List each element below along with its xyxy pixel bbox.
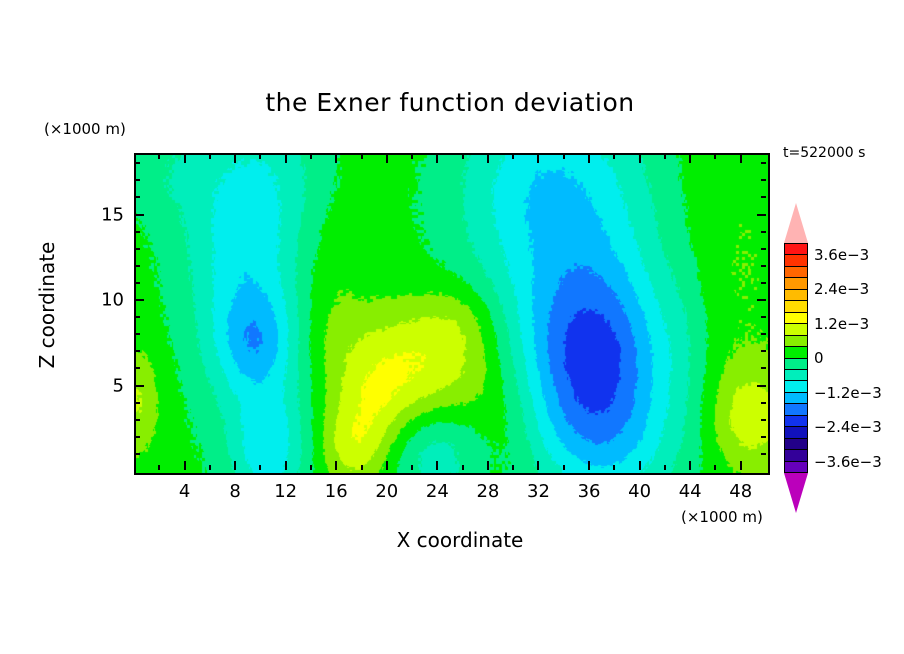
colorbar-band <box>785 324 807 335</box>
colorbar-tick-label: −1.2e−3 <box>814 384 882 402</box>
y-tick-major-right <box>757 385 766 387</box>
y-axis-title: Z coordinate <box>35 235 59 375</box>
y-tick-minor-right <box>761 453 766 455</box>
x-tick-minor <box>209 465 211 470</box>
x-tick-label: 20 <box>375 481 398 502</box>
x-tick-major-top <box>588 154 590 163</box>
y-tick-minor <box>135 402 140 404</box>
colorbar <box>784 243 808 473</box>
colorbar-band <box>785 278 807 289</box>
x-tick-major <box>740 461 742 470</box>
x-tick-minor <box>158 465 160 470</box>
contour-plot-area <box>134 153 770 475</box>
x-tick-major <box>234 461 236 470</box>
x-tick-minor-top <box>158 154 160 159</box>
x-tick-minor <box>613 465 615 470</box>
y-tick-major-right <box>757 214 766 216</box>
x-tick-major-top <box>689 154 691 163</box>
y-tick-minor <box>135 282 140 284</box>
y-tick-minor-right <box>761 436 766 438</box>
x-tick-major-top <box>487 154 489 163</box>
y-tick-label: 5 <box>94 375 124 396</box>
x-tick-minor <box>664 465 666 470</box>
x-tick-label: 28 <box>476 481 499 502</box>
colorbar-band <box>785 381 807 392</box>
y-tick-label: 15 <box>94 204 124 225</box>
y-tick-minor <box>135 231 140 233</box>
x-tick-label: 40 <box>628 481 651 502</box>
colorbar-band <box>785 347 807 358</box>
y-tick-minor-right <box>761 231 766 233</box>
y-axis-unit-label: (×1000 m) <box>44 120 126 138</box>
x-tick-minor-top <box>259 154 261 159</box>
y-tick-minor-right <box>761 282 766 284</box>
x-tick-minor <box>259 465 261 470</box>
y-tick-minor-right <box>761 265 766 267</box>
x-tick-major <box>639 461 641 470</box>
x-tick-minor-top <box>411 154 413 159</box>
x-tick-major <box>386 461 388 470</box>
x-tick-minor <box>714 465 716 470</box>
y-tick-minor <box>135 196 140 198</box>
contour-field <box>136 155 768 473</box>
colorbar-band <box>785 393 807 404</box>
colorbar-tick-label: 0 <box>814 349 824 367</box>
colorbar-band <box>785 244 807 255</box>
x-tick-minor-top <box>613 154 615 159</box>
x-tick-minor-top <box>664 154 666 159</box>
x-tick-minor <box>310 465 312 470</box>
colorbar-tick-label: −2.4e−3 <box>814 418 882 436</box>
x-tick-label: 8 <box>229 481 240 502</box>
x-tick-major <box>436 461 438 470</box>
colorbar-tick-label: 1.2e−3 <box>814 315 869 333</box>
x-tick-minor <box>563 465 565 470</box>
x-tick-minor <box>361 465 363 470</box>
x-tick-minor-top <box>310 154 312 159</box>
x-tick-minor-top <box>512 154 514 159</box>
y-tick-minor <box>135 265 140 267</box>
y-tick-minor-right <box>761 419 766 421</box>
y-tick-minor-right <box>761 179 766 181</box>
x-axis-title: X coordinate <box>70 528 850 552</box>
colorbar-tick-label: 2.4e−3 <box>814 280 869 298</box>
y-tick-minor <box>135 367 140 369</box>
colorbar-band <box>785 290 807 301</box>
y-tick-minor-right <box>761 333 766 335</box>
y-tick-minor <box>135 248 140 250</box>
colorbar-band <box>785 416 807 427</box>
x-tick-minor-top <box>714 154 716 159</box>
y-tick-minor <box>135 453 140 455</box>
colorbar-cap-top <box>784 203 808 243</box>
x-tick-label: 32 <box>527 481 550 502</box>
x-tick-major-top <box>234 154 236 163</box>
x-tick-minor-top <box>209 154 211 159</box>
page-title: the Exner function deviation <box>60 88 840 117</box>
colorbar-band <box>785 450 807 461</box>
x-tick-major <box>285 461 287 470</box>
x-tick-minor-top <box>462 154 464 159</box>
y-tick-minor-right <box>761 350 766 352</box>
y-tick-major <box>135 385 144 387</box>
colorbar-band <box>785 404 807 415</box>
x-tick-major-top <box>335 154 337 163</box>
colorbar-tick-label: −3.6e−3 <box>814 453 882 471</box>
x-tick-major-top <box>436 154 438 163</box>
y-tick-minor-right <box>761 316 766 318</box>
x-tick-label: 4 <box>179 481 190 502</box>
colorbar-band <box>785 462 807 472</box>
x-tick-minor <box>462 465 464 470</box>
y-tick-minor-right <box>761 196 766 198</box>
y-tick-minor <box>135 333 140 335</box>
colorbar-band <box>785 336 807 347</box>
x-tick-major-top <box>386 154 388 163</box>
y-tick-minor-right <box>761 402 766 404</box>
x-tick-major <box>487 461 489 470</box>
x-tick-major-top <box>285 154 287 163</box>
time-annotation: t=522000 s <box>783 145 865 161</box>
colorbar-band <box>785 427 807 438</box>
x-tick-label: 24 <box>426 481 449 502</box>
x-tick-major-top <box>639 154 641 163</box>
x-tick-major <box>537 461 539 470</box>
y-tick-minor <box>135 316 140 318</box>
x-tick-major <box>689 461 691 470</box>
y-tick-minor <box>135 350 140 352</box>
x-tick-minor-top <box>563 154 565 159</box>
x-tick-label: 16 <box>325 481 348 502</box>
x-tick-major <box>588 461 590 470</box>
colorbar-band <box>785 359 807 370</box>
colorbar-band <box>785 267 807 278</box>
x-tick-minor <box>411 465 413 470</box>
x-tick-major <box>335 461 337 470</box>
x-tick-major-top <box>537 154 539 163</box>
colorbar-tick-label: 3.6e−3 <box>814 246 869 264</box>
y-tick-minor <box>135 162 140 164</box>
x-tick-minor-top <box>361 154 363 159</box>
y-tick-minor-right <box>761 248 766 250</box>
colorbar-band <box>785 313 807 324</box>
x-tick-major-top <box>184 154 186 163</box>
x-tick-major-top <box>740 154 742 163</box>
x-tick-label: 44 <box>679 481 702 502</box>
y-tick-minor <box>135 436 140 438</box>
colorbar-band <box>785 255 807 266</box>
colorbar-band <box>785 301 807 312</box>
x-tick-label: 12 <box>274 481 297 502</box>
y-tick-major <box>135 214 144 216</box>
y-tick-label: 10 <box>94 290 124 311</box>
x-tick-minor <box>512 465 514 470</box>
y-tick-minor-right <box>761 367 766 369</box>
y-tick-major <box>135 299 144 301</box>
colorbar-cap-bottom <box>784 473 808 513</box>
y-tick-minor <box>135 419 140 421</box>
x-tick-major <box>184 461 186 470</box>
y-tick-minor <box>135 179 140 181</box>
colorbar-band <box>785 439 807 450</box>
x-tick-label: 36 <box>578 481 601 502</box>
x-tick-label: 48 <box>729 481 752 502</box>
y-tick-major-right <box>757 299 766 301</box>
x-axis-unit-label: (×1000 m) <box>681 508 763 526</box>
y-tick-minor-right <box>761 162 766 164</box>
colorbar-band <box>785 370 807 381</box>
